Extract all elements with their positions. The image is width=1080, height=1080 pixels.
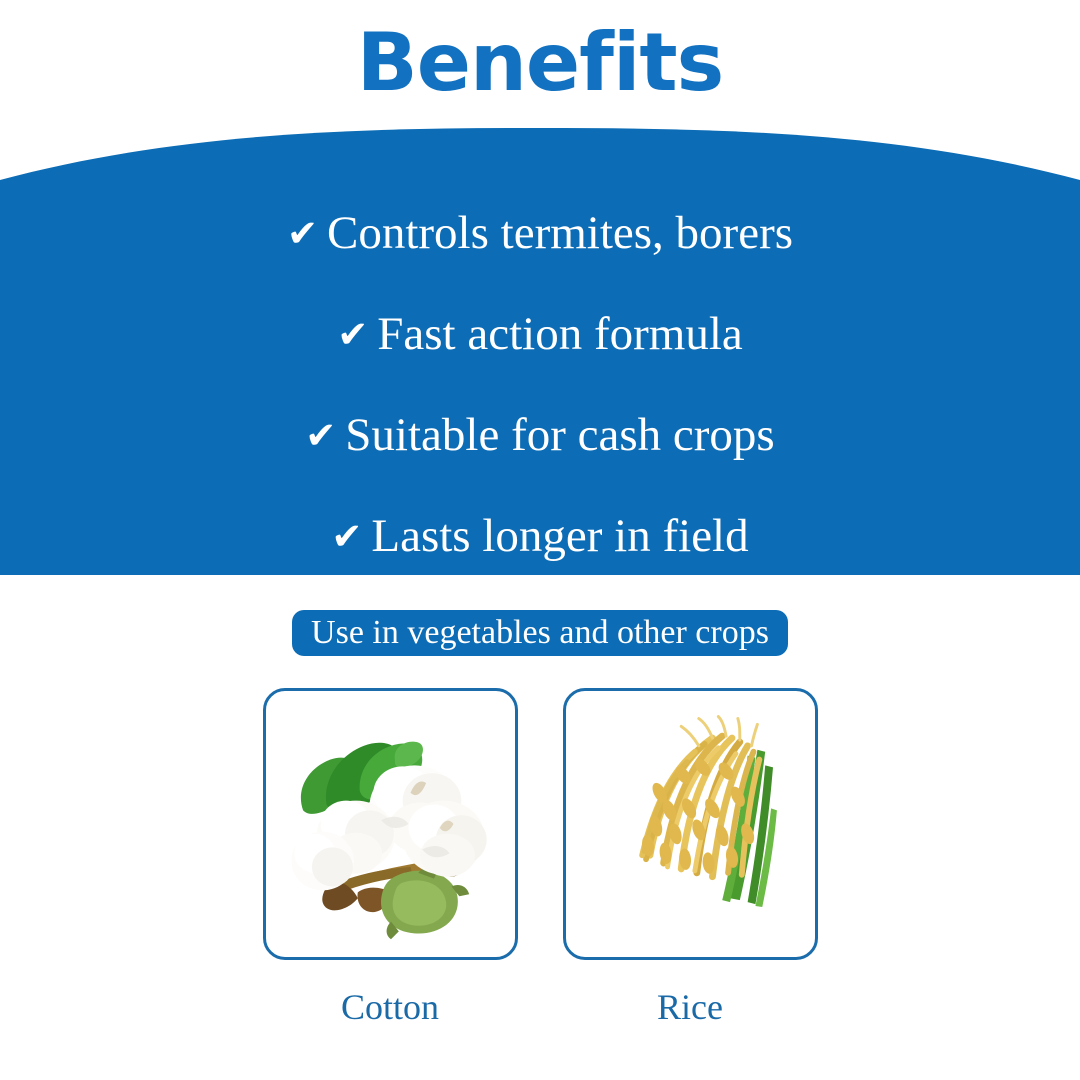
list-item: ✔ Controls termites, borers <box>0 182 1080 283</box>
crop-label: Cotton <box>263 986 518 1028</box>
rice-panicle-image <box>566 691 815 957</box>
crops-badge-container: Use in vegetables and other crops <box>0 610 1080 656</box>
crop-label: Rice <box>563 986 818 1028</box>
crop-cards: Cotton <box>0 688 1080 1028</box>
crop-item-rice: Rice <box>563 688 818 1028</box>
benefit-label: Controls termites, borers <box>327 205 793 261</box>
page-title-container: Benefits <box>0 18 1080 108</box>
page-title: Benefits <box>357 18 724 108</box>
status-badge: Use in vegetables and other crops <box>292 610 788 656</box>
list-item: ✔ Suitable for cash crops <box>0 384 1080 485</box>
check-icon: ✔ <box>305 417 336 454</box>
crop-card <box>563 688 818 960</box>
crop-card <box>263 688 518 960</box>
list-item: ✔ Lasts longer in field <box>0 485 1080 586</box>
benefit-label: Lasts longer in field <box>371 508 748 564</box>
benefits-infographic: Benefits ✔ Controls termites, borers ✔ F… <box>0 0 1080 1080</box>
benefit-label: Fast action formula <box>377 306 742 362</box>
check-icon: ✔ <box>331 518 362 555</box>
list-item: ✔ Fast action formula <box>0 283 1080 384</box>
benefits-band: ✔ Controls termites, borers ✔ Fast actio… <box>0 128 1080 575</box>
crop-item-cotton: Cotton <box>263 688 518 1028</box>
cotton-bolls-image <box>266 691 515 957</box>
check-icon: ✔ <box>287 215 318 252</box>
benefits-list: ✔ Controls termites, borers ✔ Fast actio… <box>0 182 1080 586</box>
check-icon: ✔ <box>337 316 368 353</box>
benefit-label: Suitable for cash crops <box>345 407 774 463</box>
